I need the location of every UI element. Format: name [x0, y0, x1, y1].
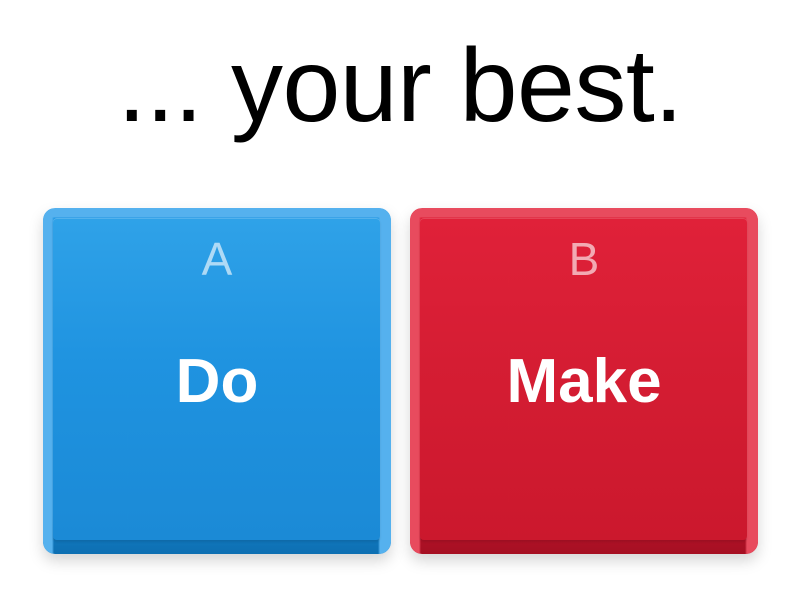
quiz-stage: ... your best. A Do B Make	[0, 0, 800, 600]
answer-label-b: Make	[410, 346, 758, 418]
answer-letter-b: B	[410, 234, 758, 284]
answer-options-row: A Do B Make	[0, 208, 800, 568]
answer-card-a[interactable]: A Do	[43, 208, 391, 554]
answer-letter-a: A	[43, 234, 391, 284]
answer-card-b[interactable]: B Make	[410, 208, 758, 554]
answer-label-a: Do	[43, 346, 391, 418]
question-prompt: ... your best.	[0, 26, 800, 146]
